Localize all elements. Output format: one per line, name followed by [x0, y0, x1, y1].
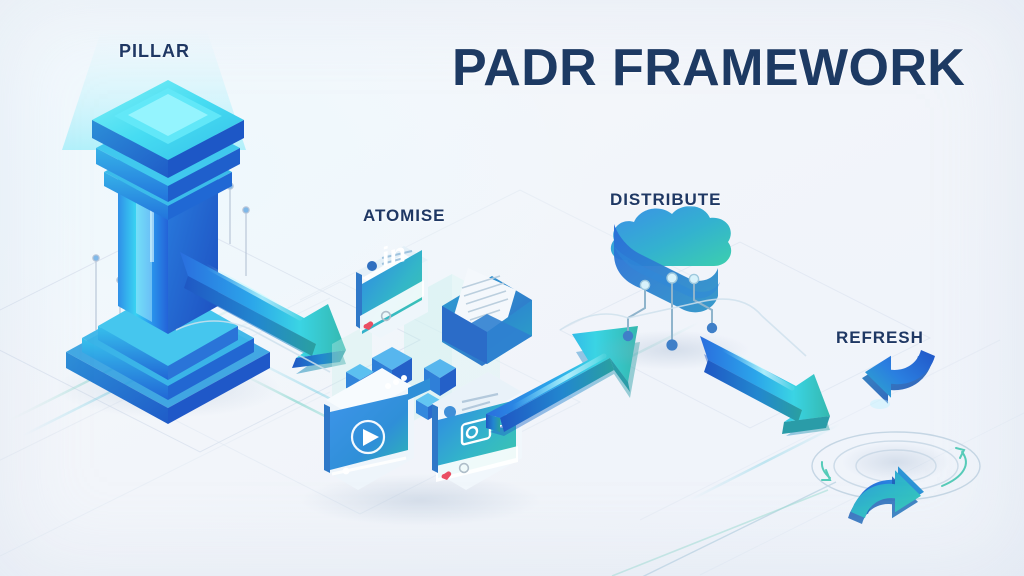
diagram-canvas: in — [0, 0, 1024, 576]
stage-label-pillar: PILLAR — [119, 41, 190, 62]
stage-label-distribute: DISTRIBUTE — [610, 190, 721, 210]
stage-label-refresh: REFRESH — [836, 328, 924, 348]
stage-label-atomise: ATOMISE — [363, 206, 445, 226]
page-title: PADR FRAMEWORK — [452, 38, 965, 98]
